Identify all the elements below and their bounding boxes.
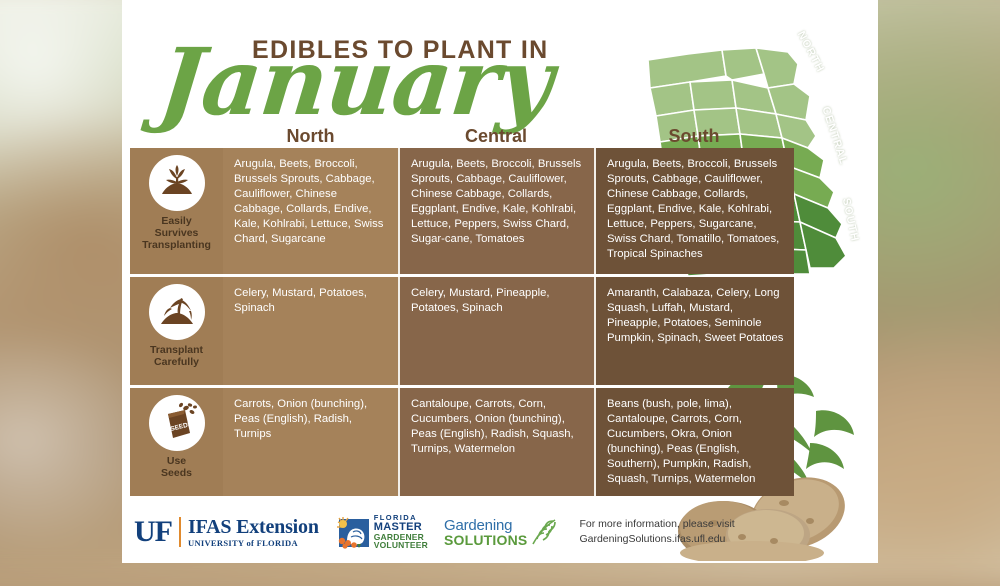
row-label-text: UseSeeds: [161, 456, 192, 480]
cell-central-row-1: Arugula, Beets, Broccoli, Brussels Sprou…: [398, 148, 594, 274]
cell-south-row-2: Amaranth, Calabaza, Celery, Long Squash,…: [594, 277, 794, 385]
uf-ifas-extension-logo: UF IFAS Extension UNIVERSITY of FLORIDA: [134, 515, 319, 549]
row-label-easily-survives-transplanting: EasilySurvivesTransplanting: [130, 148, 223, 274]
more-information-text: For more information, please visit Garde…: [579, 517, 734, 547]
florida-master-gardener-logo: FLORIDA MASTER GARDENER VOLUNTEER: [335, 514, 428, 550]
table-row: EasilySurvivesTransplanting Arugula, Bee…: [122, 148, 878, 274]
gardening-solutions-logo: Gardening SOLUTIONS: [444, 517, 559, 547]
drooping-seedling-icon: [149, 284, 205, 340]
master-gardener-emblem-icon: [335, 515, 371, 549]
title-block: EDIBLES TO PLANT IN January: [122, 16, 682, 131]
more-info-line-2: GardeningSolutions.ifas.ufl.edu: [579, 532, 734, 547]
uf-divider: [179, 517, 181, 547]
cell-north-row-1: Arugula, Beets, Broccoli, Brussels Sprou…: [223, 148, 398, 274]
row-label-transplant-carefully: TransplantCarefully: [130, 277, 223, 385]
cell-central-row-2: Celery, Mustard, Pineapple, Potatoes, Sp…: [398, 277, 594, 385]
table-row: TransplantCarefully Celery, Mustard, Pot…: [122, 277, 878, 385]
seedling-in-soil-icon: [149, 155, 205, 211]
uf-wordmark: UF: [134, 517, 172, 547]
planting-table: North Central South Easily: [122, 120, 878, 499]
table-row: SEEDS UseSeeds Carrots, Onion (bunching)…: [122, 388, 878, 496]
header-spacer: [130, 120, 223, 148]
uf-university-text: UNIVERSITY of FLORIDA: [188, 539, 319, 548]
cell-south-row-3: Beans (bush, pole, lima), Cantaloupe, Ca…: [594, 388, 794, 496]
mg-line-volunteer: VOLUNTEER: [374, 541, 428, 550]
infographic-card: NORTH CENTRAL SOUTH: [122, 0, 878, 563]
row-label-text: EasilySurvivesTransplanting: [142, 216, 211, 251]
row-label-text: TransplantCarefully: [150, 345, 203, 369]
column-header-north: North: [223, 120, 398, 148]
seed-packet-icon: SEEDS: [149, 395, 205, 451]
leaf-icon: [529, 517, 559, 547]
footer: UF IFAS Extension UNIVERSITY of FLORIDA: [122, 501, 878, 563]
more-info-line-1: For more information, please visit: [579, 517, 734, 532]
uf-ifas-text: IFAS Extension: [188, 517, 319, 537]
column-header-south: South: [594, 120, 794, 148]
gs-line-gardening: Gardening: [444, 518, 527, 533]
cell-central-row-3: Cantaloupe, Carrots, Corn, Cucumbers, On…: [398, 388, 594, 496]
gs-line-solutions: SOLUTIONS: [444, 533, 527, 547]
cell-south-row-1: Arugula, Beets, Broccoli, Brussels Sprou…: [594, 148, 794, 274]
column-header-central: Central: [398, 120, 594, 148]
table-header-row: North Central South: [122, 120, 878, 148]
cell-north-row-2: Celery, Mustard, Potatoes, Spinach: [223, 277, 398, 385]
row-label-use-seeds: SEEDS UseSeeds: [130, 388, 223, 496]
cell-north-row-3: Carrots, Onion (bunching), Peas (English…: [223, 388, 398, 496]
